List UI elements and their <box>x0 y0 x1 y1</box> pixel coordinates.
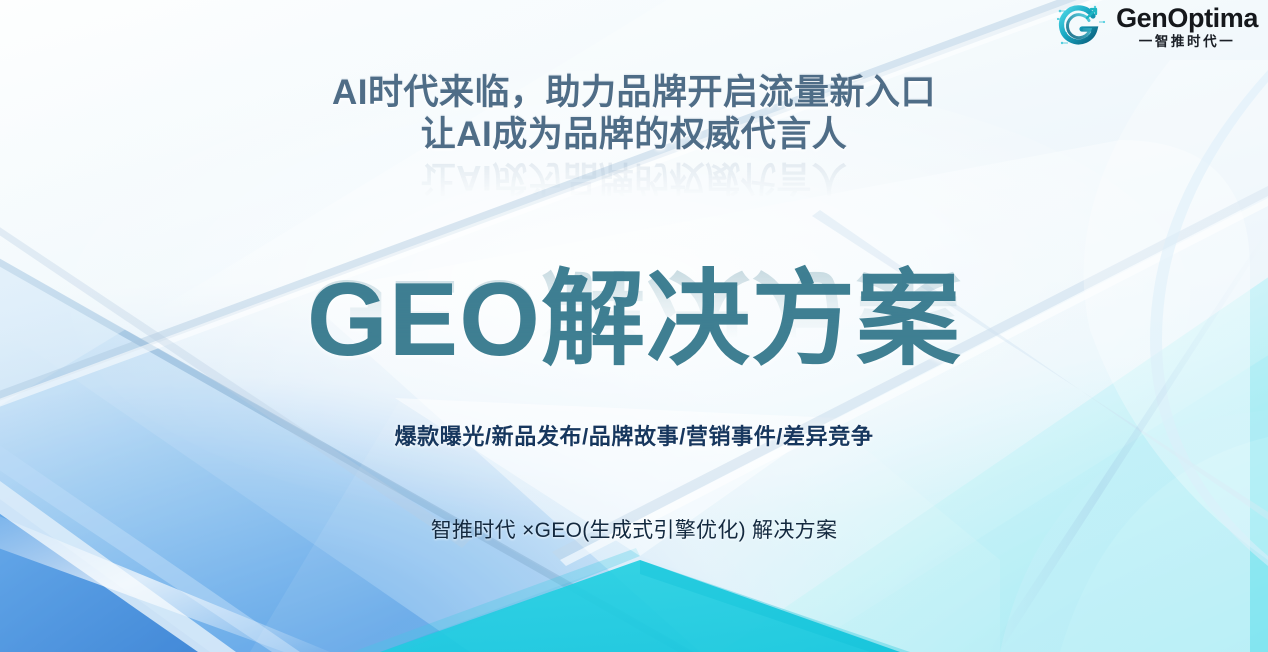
presentation-slide: GenOptima 一智推时代一 AI时代来临，助力品牌开启流量新入口 让AI成… <box>0 0 1268 652</box>
main-title-block: GEO解决方案 GEO解决方案 <box>0 268 1268 372</box>
footer-subtitle: 智推时代 ×GEO(生成式引擎优化) 解决方案 <box>0 514 1268 544</box>
keywords-tagline: 爆款曝光/新品发布/品牌故事/营销事件/差异竞争 <box>0 419 1268 451</box>
page-title: GEO解决方案 <box>0 268 1268 372</box>
headline-block: AI时代来临，助力品牌开启流量新入口 让AI成为品牌的权威代言人 让AI成为品牌… <box>0 72 1268 156</box>
headline-line-2: 让AI成为品牌的权威代言人 <box>0 114 1268 156</box>
headline-line-1: AI时代来临，助力品牌开启流量新入口 <box>0 72 1268 114</box>
brand-logo[interactable]: GenOptima 一智推时代一 <box>1054 2 1258 52</box>
logo-name: GenOptima <box>1116 5 1258 32</box>
logo-tagline: 一智推时代一 <box>1116 35 1258 49</box>
logo-wordmark: GenOptima 一智推时代一 <box>1116 5 1258 49</box>
geno-g-circuit-icon <box>1054 2 1108 52</box>
